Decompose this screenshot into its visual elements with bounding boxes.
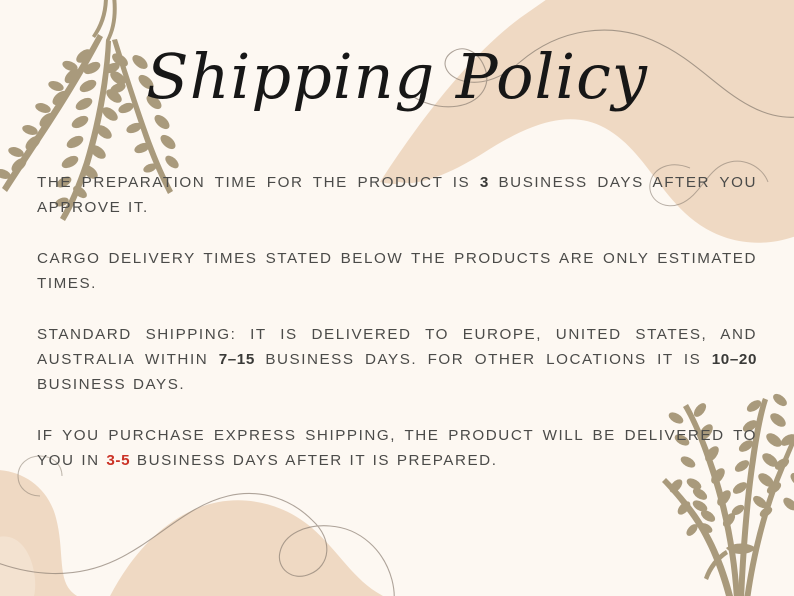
text-segment: business days. For other locations it is — [255, 351, 712, 368]
highlight-value-accent: 3-5 — [106, 452, 130, 469]
content-layer: Shipping Policy The preparation time for… — [0, 0, 794, 596]
text-segment: Cargo delivery times stated below the pr… — [37, 250, 757, 292]
paragraph-preparation-time: The preparation time for the product is … — [37, 170, 757, 220]
policy-body: The preparation time for the product is … — [37, 170, 757, 473]
text-segment: business days after it is prepared. — [130, 452, 497, 469]
text-segment: business days. — [37, 376, 185, 393]
paragraph-express-shipping: If you purchase express shipping, the pr… — [37, 423, 757, 473]
page-title: Shipping Policy — [0, 46, 794, 108]
shipping-policy-card: Shipping Policy The preparation time for… — [0, 0, 794, 596]
paragraph-cargo-estimate: Cargo delivery times stated below the pr… — [37, 246, 757, 296]
highlight-value: 3 — [480, 174, 489, 191]
highlight-value: 7–15 — [219, 351, 255, 368]
highlight-value: 10–20 — [712, 351, 757, 368]
paragraph-standard-shipping: Standard shipping: it is delivered to Eu… — [37, 322, 757, 397]
text-segment: The preparation time for the product is — [37, 174, 480, 191]
